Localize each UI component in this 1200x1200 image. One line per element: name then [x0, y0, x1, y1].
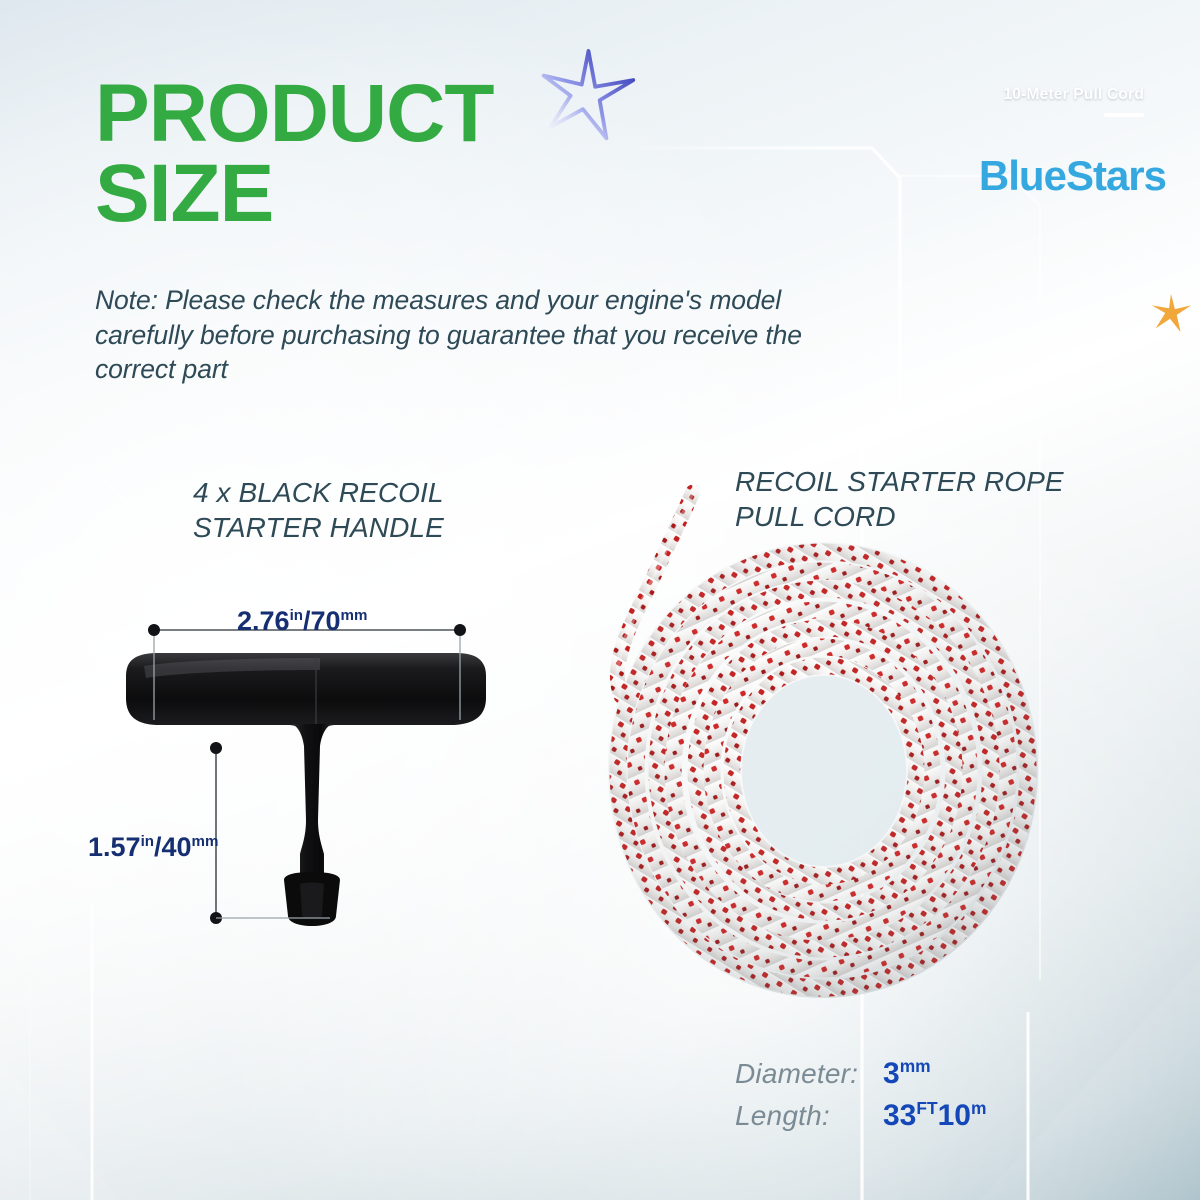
spec-value-length-ft: 33 [883, 1099, 916, 1132]
handle-height-value-mm: /40 [154, 832, 192, 862]
spec-value-length-unit-ft: FT [916, 1098, 937, 1118]
handle-width-unit-mm: mm [341, 607, 368, 624]
brand-name-part2: Stars [1066, 152, 1166, 199]
brand-name-part1: Blue [979, 152, 1066, 199]
star-gold-icon [1148, 290, 1194, 336]
handle-height-unit-in: in [141, 833, 154, 850]
handle-width-value: 2.76 [237, 606, 290, 636]
brand-name: BlueStars [979, 152, 1166, 200]
kicker-underline [1104, 113, 1144, 117]
handle-height-value: 1.57 [88, 832, 141, 862]
infographic-page: PRODUCT SIZE 10-Meter Pull Cord Note: Pl… [0, 0, 1200, 1200]
handle-height-unit-mm: mm [192, 833, 219, 850]
spec-value-diameter: 3mm [883, 1056, 931, 1091]
page-title-line1: PRODUCT [95, 68, 493, 159]
spec-value-diameter-number: 3 [883, 1057, 900, 1090]
spec-label-length: Length: [735, 1100, 883, 1132]
rope-spec-table: Diameter: 3mm Length: 33FT10m [735, 1056, 986, 1140]
spec-row-length: Length: 33FT10m [735, 1098, 986, 1140]
spec-row-diameter: Diameter: 3mm [735, 1056, 986, 1098]
handle-width-value-mm: /70 [303, 606, 341, 636]
brand-logo: BlueStars [979, 152, 1166, 200]
page-title: PRODUCT SIZE [95, 74, 493, 235]
page-title-line2: SIZE [95, 154, 493, 234]
spec-value-length: 33FT10m [883, 1098, 986, 1133]
star-outline-icon [528, 42, 640, 154]
handle-caption: 4 x BLACK RECOIL STARTER HANDLE [193, 476, 513, 545]
spec-value-length-unit-m: m [971, 1098, 986, 1118]
spec-label-diameter: Diameter: [735, 1058, 883, 1090]
spec-value-diameter-unit: mm [900, 1056, 931, 1076]
kicker-label: 10-Meter Pull Cord [1003, 86, 1144, 104]
spec-value-length-m: 10 [938, 1099, 971, 1132]
recoil-starter-rope-image [575, 470, 1045, 1050]
handle-width-label: 2.76in/70mm [237, 606, 367, 637]
note-text: Note: Please check the measures and your… [95, 283, 885, 387]
kicker-block: 10-Meter Pull Cord [1003, 86, 1144, 117]
handle-dimension-lines [120, 600, 540, 960]
handle-width-unit-in: in [290, 607, 303, 624]
handle-height-label: 1.57in/40mm [88, 832, 218, 863]
